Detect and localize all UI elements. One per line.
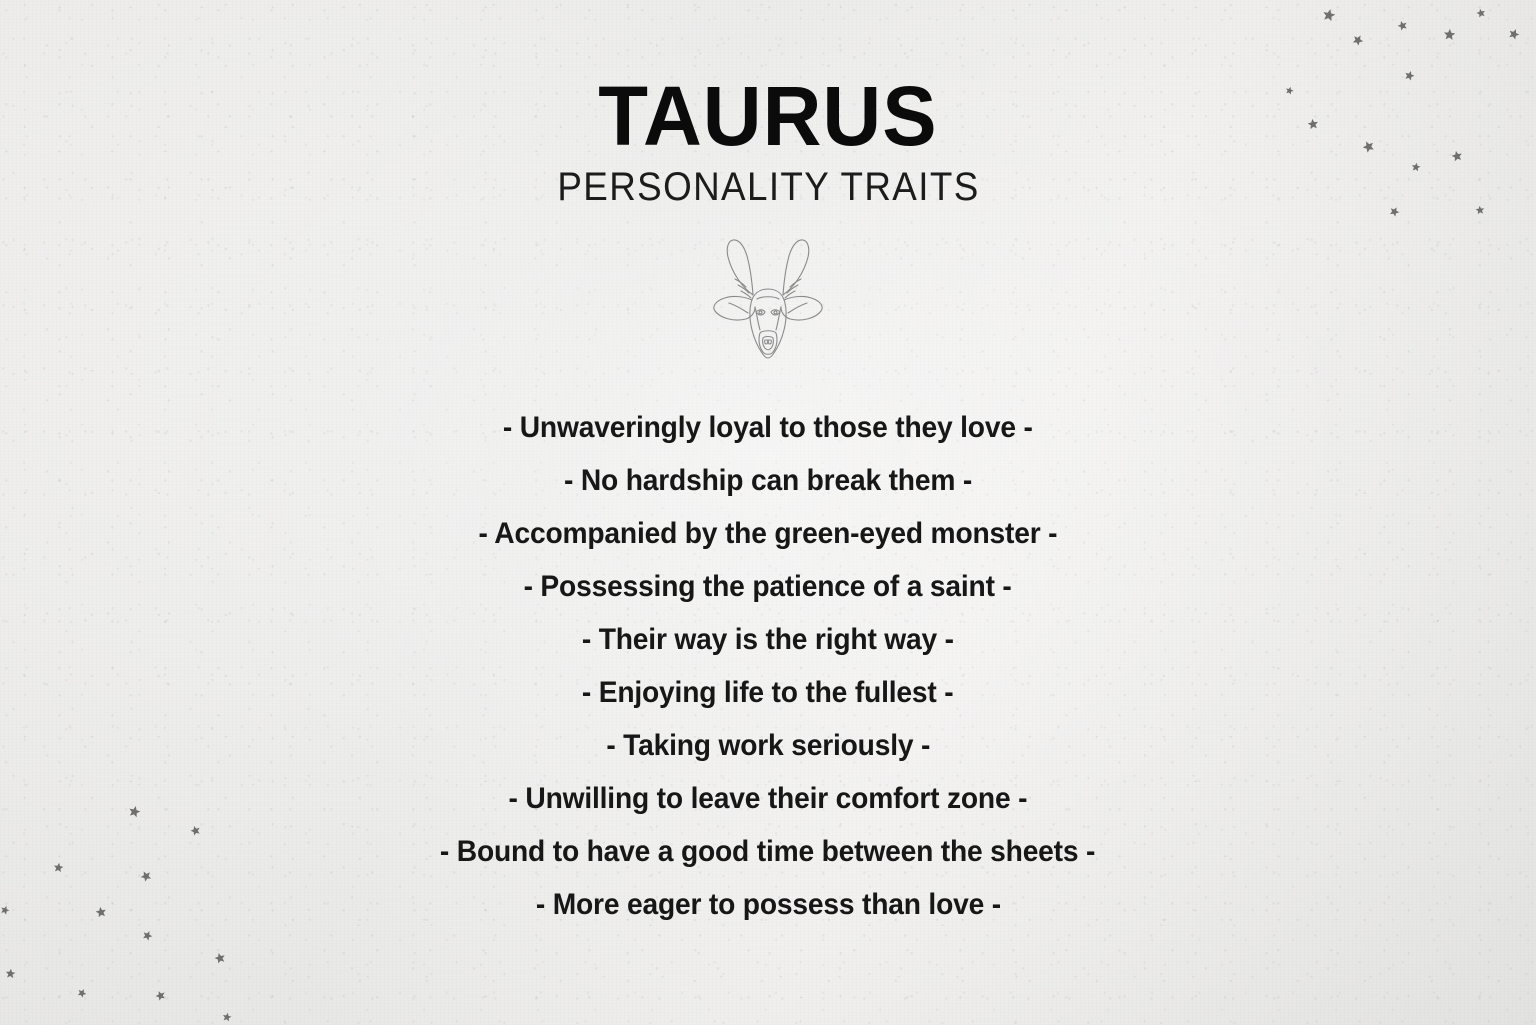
trait-item: - Accompanied by the green-eyed monster … <box>479 507 1058 560</box>
trait-item: - Possessing the patience of a saint - <box>524 560 1012 613</box>
trait-item: - Bound to have a good time between the … <box>440 825 1095 878</box>
traits-list: - Unwaveringly loyal to those they love … <box>419 401 1116 931</box>
trait-item: - More eager to possess than love - <box>535 878 1000 931</box>
trait-item: - Enjoying life to the fullest - <box>582 666 954 719</box>
trait-item: - Unwilling to leave their comfort zone … <box>509 772 1028 825</box>
poster-content: TAURUS PERSONALITY TRAITS <box>0 0 1536 1025</box>
trait-item: - Their way is the right way - <box>582 613 954 666</box>
trait-item: - No hardship can break them - <box>564 454 972 507</box>
page-title: TAURUS <box>598 78 937 155</box>
trait-item: - Taking work seriously - <box>606 719 930 772</box>
trait-item: - Unwaveringly loyal to those they love … <box>503 401 1033 454</box>
page-subtitle: PERSONALITY TRAITS <box>557 167 979 207</box>
bull-head-icon <box>702 237 834 367</box>
